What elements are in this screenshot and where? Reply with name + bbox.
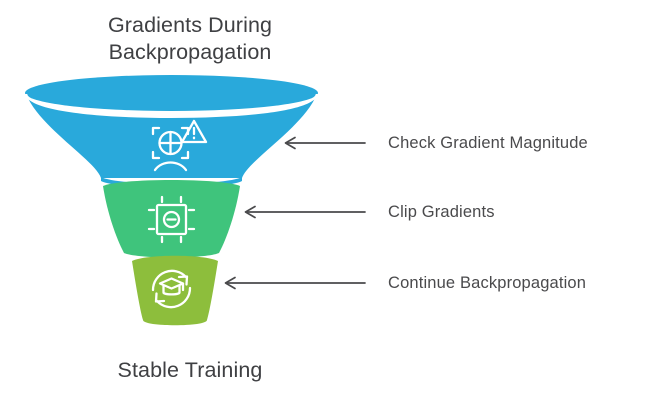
callout-label-continue-backpropagation[interactable]: Continue Backpropagation <box>388 273 586 293</box>
callout-label-clip-gradients[interactable]: Clip Gradients <box>388 202 495 222</box>
funnel-top-rim <box>25 75 318 111</box>
funnel-band-olive-body <box>132 256 218 326</box>
funnel-stage-3[interactable] <box>132 256 218 326</box>
funnel-outcome-caption: Stable Training <box>10 357 370 384</box>
callout-label-check-gradient-magnitude[interactable]: Check Gradient Magnitude <box>388 133 588 153</box>
funnel-graphic <box>0 0 648 410</box>
funnel-diagram: Gradients During Backpropagation <box>0 0 648 410</box>
